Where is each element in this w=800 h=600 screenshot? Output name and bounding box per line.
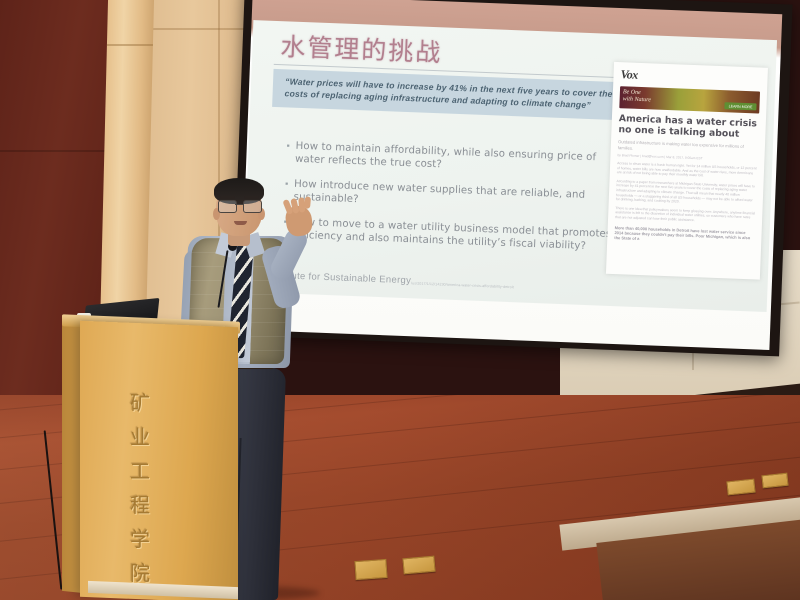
speaker-mouth bbox=[234, 221, 247, 225]
speaker-eyebrow-right bbox=[244, 196, 259, 199]
article-paragraph: There is one idea that policymakers seem… bbox=[615, 206, 755, 225]
slide-quote-box: “Water prices will have to increase by 4… bbox=[272, 69, 629, 121]
speaker-eyebrow-left bbox=[220, 196, 235, 199]
slide-footer-url: /us/2017/1/12/14230/america-water-crisis… bbox=[411, 281, 514, 289]
article-headline: America has a water crisis no one is tal… bbox=[618, 114, 759, 141]
banner-line-1: One bbox=[631, 90, 641, 96]
banner-prefix-2: with bbox=[623, 96, 634, 102]
banner-prefix-1: Be bbox=[623, 89, 630, 95]
presentation-photo-scene: 水管理的挑战 “Water prices will have to increa… bbox=[0, 0, 800, 600]
slide-title: 水管理的挑战 bbox=[280, 27, 443, 69]
floor-outlet-cover bbox=[354, 559, 387, 580]
news-article-screenshot: Vox Be One with Nature LEARN MORE Americ… bbox=[606, 62, 768, 280]
bullet-text: How to move to a water utility business … bbox=[292, 215, 614, 254]
slide-footer: Institute for Sustainable Energy/us/2017… bbox=[269, 270, 514, 290]
floor-outlet-cover bbox=[402, 556, 435, 575]
banner-advertisement[interactable]: Be One with Nature LEARN MORE bbox=[619, 86, 760, 113]
list-item: ▪ How introduce new water supplies that … bbox=[284, 177, 615, 216]
article-subhead: More than 40,000 households in Detroit h… bbox=[614, 225, 754, 245]
list-item: ▪ How to maintain affordability, while a… bbox=[286, 139, 617, 178]
floor-outlet-cover bbox=[726, 479, 755, 496]
article-paragraph: According to a paper from researchers at… bbox=[616, 179, 757, 207]
podium-institution-name: 矿业工程学院 bbox=[125, 386, 155, 590]
list-item: ▪ How to move to a water utility busines… bbox=[283, 215, 614, 254]
floor-outlet-cover bbox=[761, 473, 788, 489]
bullet-text: How introduce new water supplies that ar… bbox=[293, 178, 615, 217]
article-paragraph: Access to clean water is a basic human r… bbox=[617, 161, 757, 180]
slide-quote-text: “Water prices will have to increase by 4… bbox=[284, 76, 619, 112]
banner-brand-text: Be One with Nature bbox=[622, 89, 651, 104]
vox-logo: Vox bbox=[620, 67, 760, 87]
wall-pillar bbox=[100, 0, 154, 330]
presentation-slide: 水管理的挑战 “Water prices will have to increa… bbox=[243, 20, 777, 312]
banner-cta-button[interactable]: LEARN MORE bbox=[725, 102, 757, 110]
banner-line-2: Nature bbox=[634, 97, 651, 104]
bullet-text: How to maintain affordability, while als… bbox=[295, 140, 617, 179]
slide-bullet-list: ▪ How to maintain affordability, while a… bbox=[283, 139, 617, 265]
lectern-podium bbox=[80, 321, 238, 600]
speaker-glasses-icon bbox=[218, 200, 262, 211]
